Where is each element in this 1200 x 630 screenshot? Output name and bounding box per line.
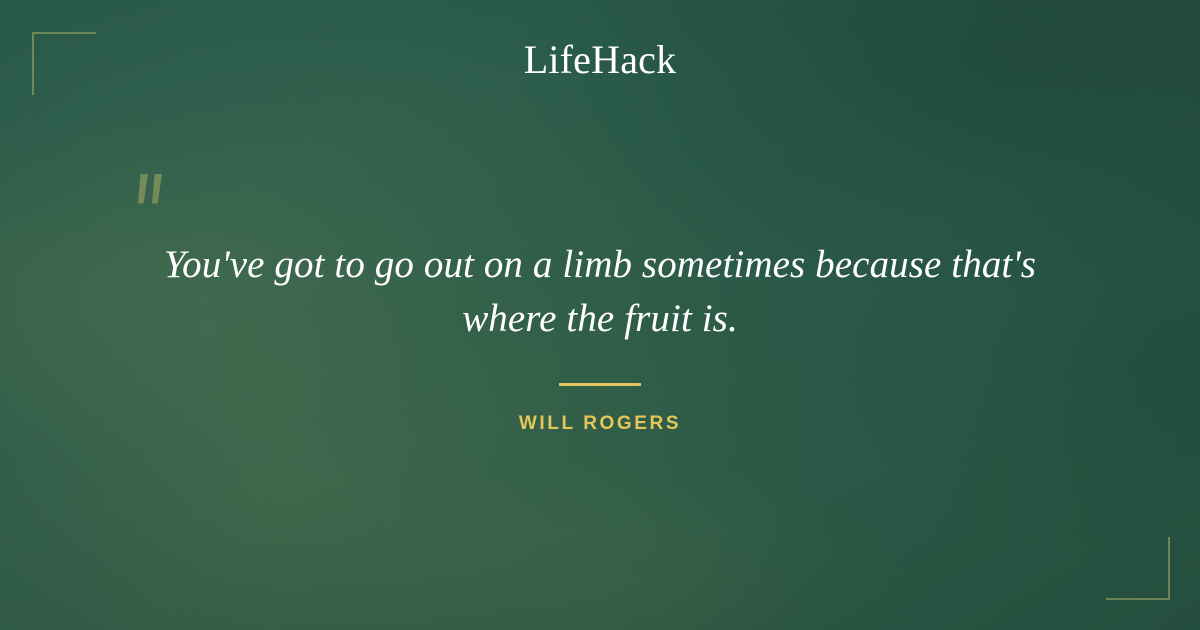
quote-line-1: You've got to go out on a limb sometimes… (100, 238, 1100, 292)
quote-author: WILL ROGERS (0, 413, 1200, 435)
quotation-mark-icon (130, 168, 186, 220)
quote-line-2: where the fruit is. (100, 292, 1100, 346)
quote-block: You've got to go out on a limb sometimes… (100, 238, 1100, 346)
lifehack-logo: LifeHack (0, 40, 1200, 80)
quote-card: LifeHack You've got to go out on a limb … (0, 0, 1200, 630)
divider-rule (559, 383, 641, 386)
